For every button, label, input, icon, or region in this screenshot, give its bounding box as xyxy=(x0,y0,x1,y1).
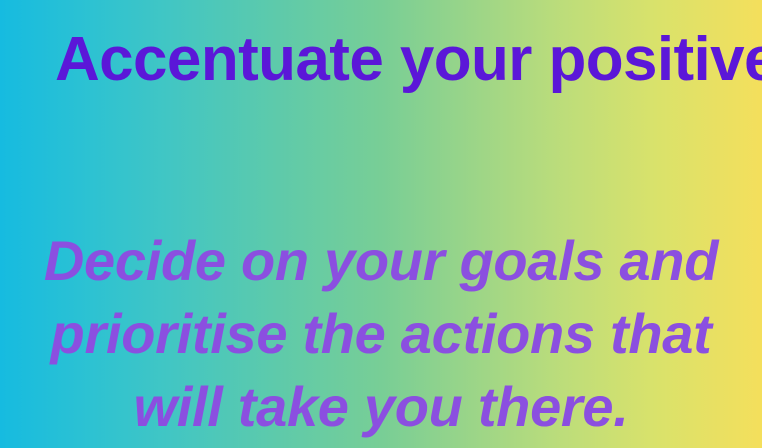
body-copy-line-1: Decide on your goals and xyxy=(28,224,734,297)
poster-canvas: Accentuate your positive Decide on your … xyxy=(0,0,762,448)
headline-emphasis-word: Accentuate xyxy=(55,25,383,94)
headline-rest: your positive xyxy=(400,25,762,94)
body-copy-line-2: prioritise the actions that xyxy=(28,297,734,370)
body-copy: Decide on your goals and prioritise the … xyxy=(0,224,762,443)
body-copy-line-3: will take you there. xyxy=(28,370,734,443)
page-title: Accentuate your positive xyxy=(55,27,735,93)
